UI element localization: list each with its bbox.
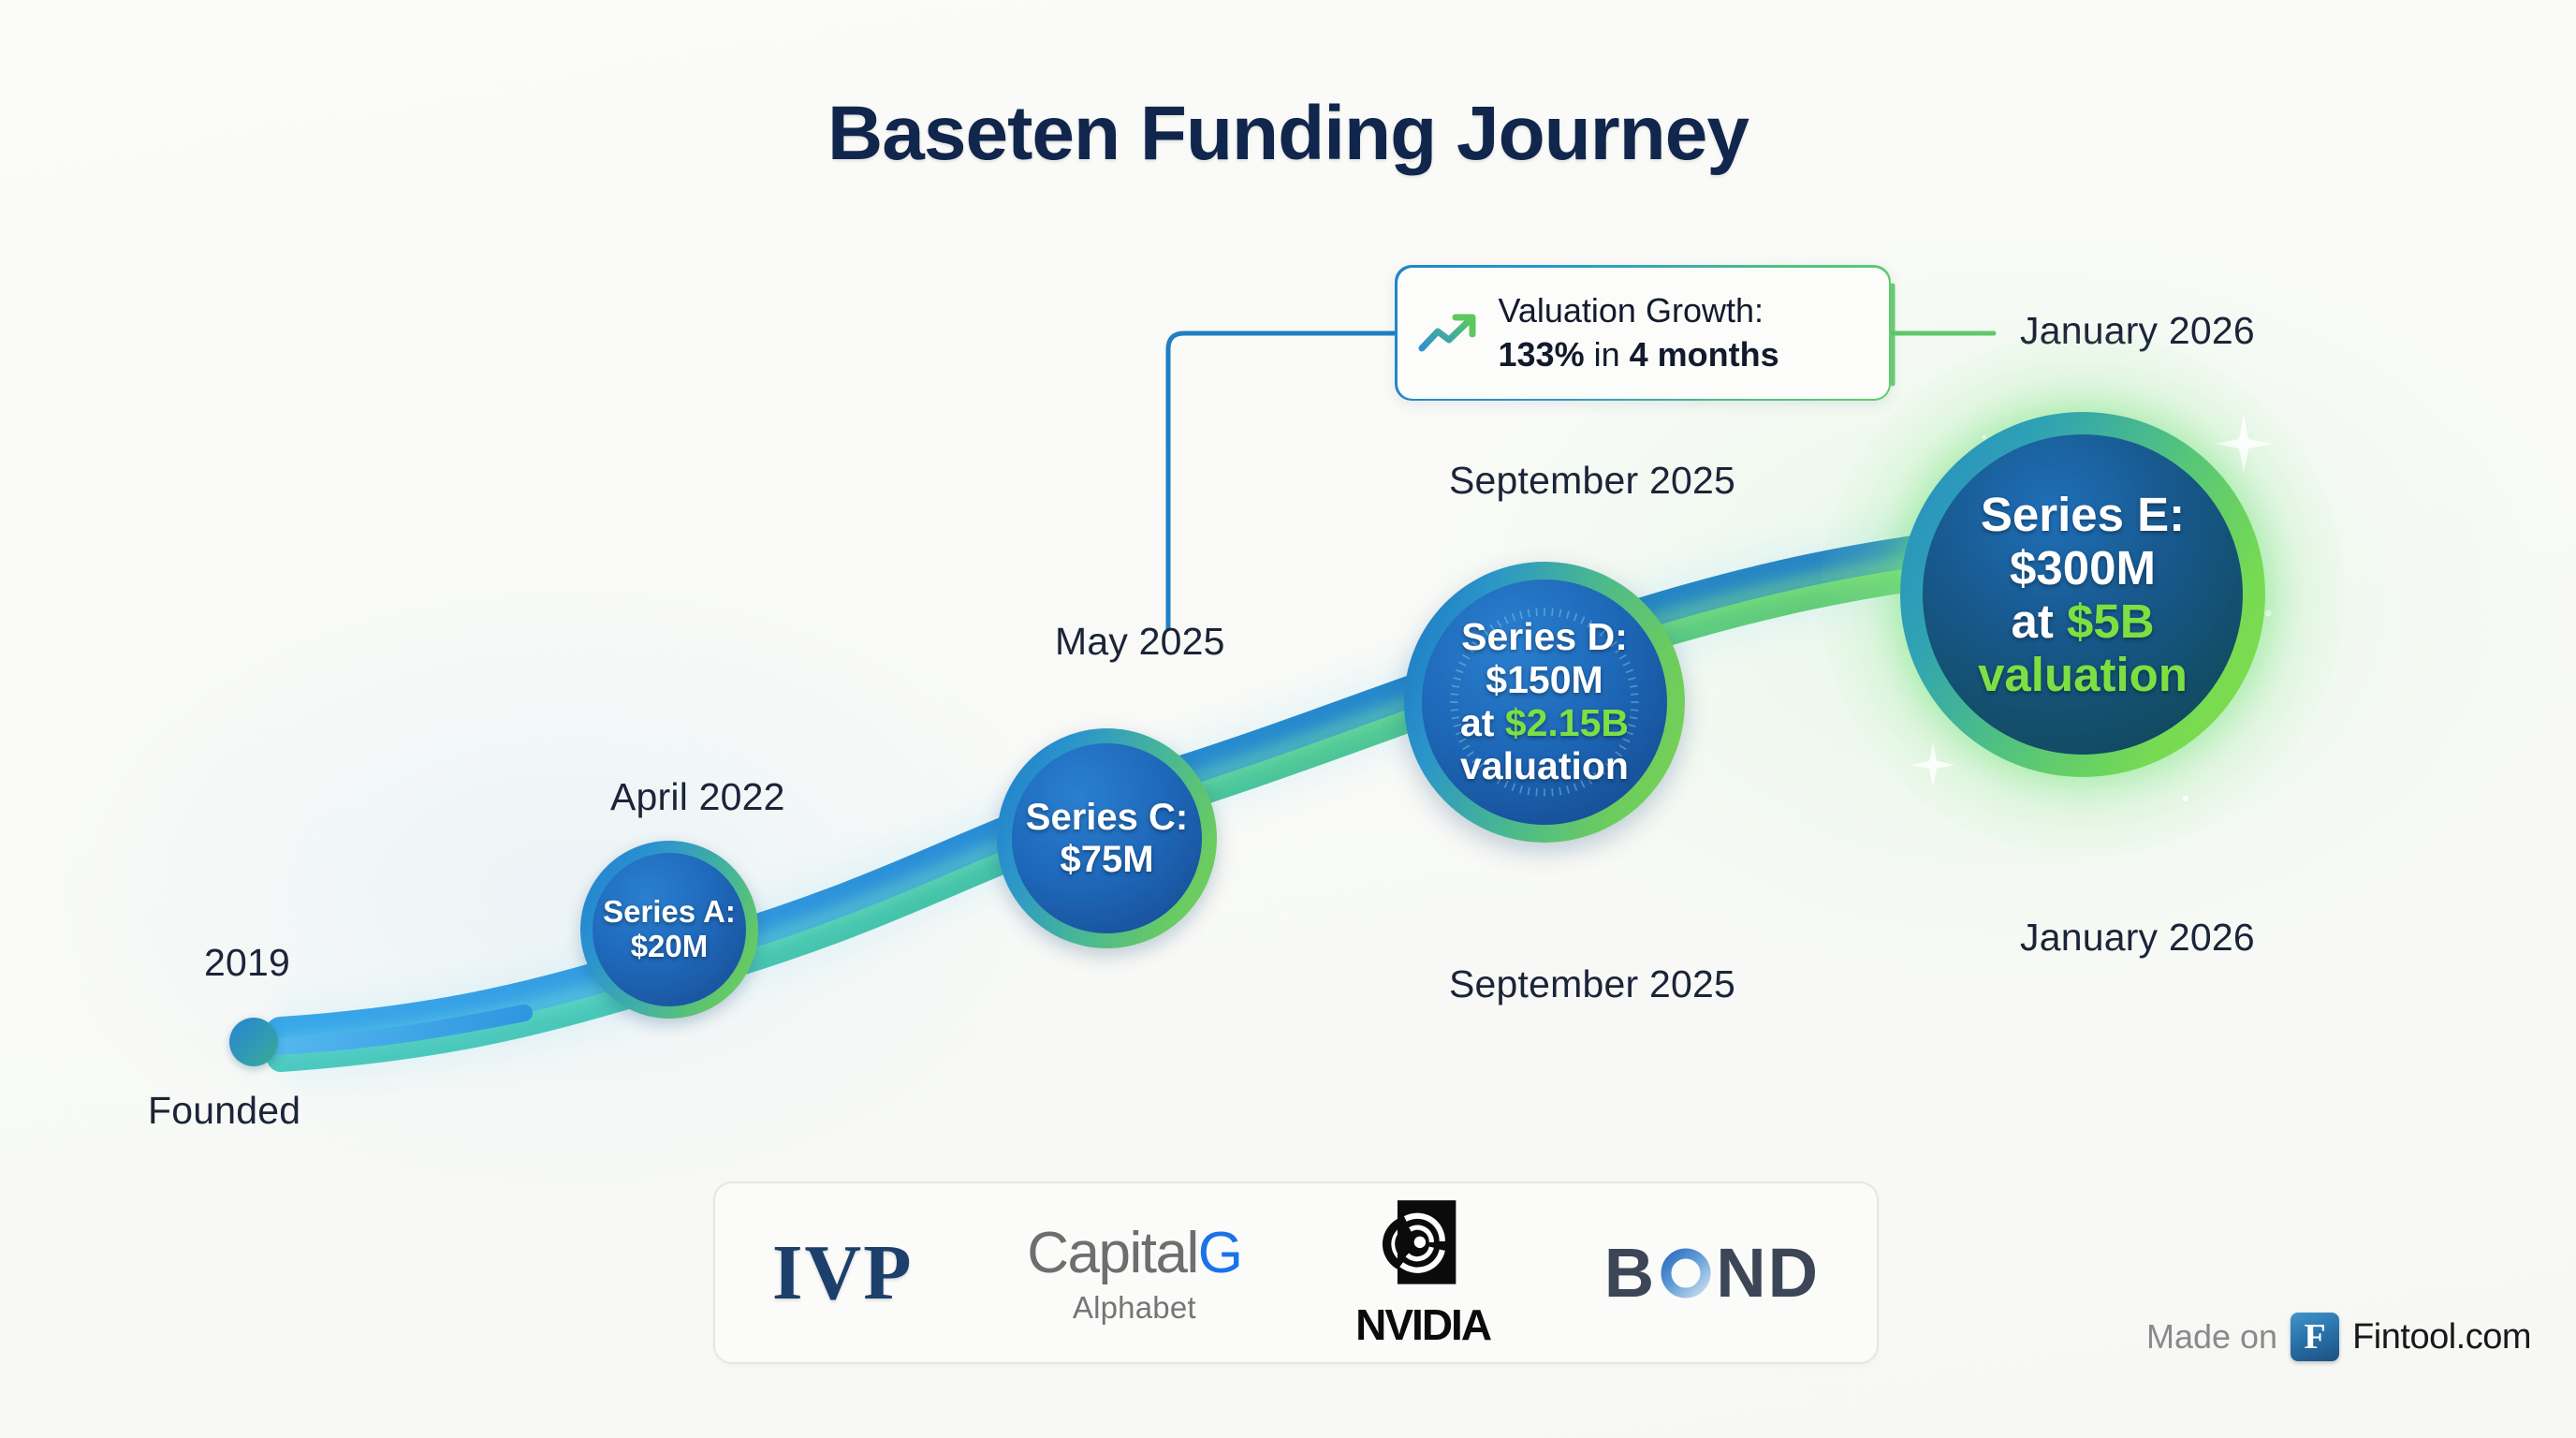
valuation-growth-callout: Valuation Growth: 133% in 4 months bbox=[1395, 265, 1891, 401]
series-d-valuation: $2.15B bbox=[1505, 701, 1629, 744]
made-on-label: Made on bbox=[2146, 1317, 2277, 1357]
series-e-line3: at $5B bbox=[1978, 594, 2188, 648]
series-d-core: Series D: $150M at $2.15B valuation bbox=[1422, 580, 1667, 825]
series-e-line2: $300M bbox=[1978, 541, 2188, 594]
milestone-series-e[interactable]: Series E: $300M at $5B valuation bbox=[1900, 412, 2265, 777]
callout-line2: 133% in 4 months bbox=[1499, 333, 1779, 376]
infographic-canvas: Baseten Funding Journey Valuation Growth… bbox=[0, 0, 2576, 1438]
series-d-line4: valuation bbox=[1460, 745, 1629, 788]
investor-logo-capitalg: CapitalG Alphabet bbox=[1027, 1220, 1241, 1326]
capitalg-g: G bbox=[1198, 1221, 1242, 1285]
series-e-line1: Series E: bbox=[1978, 488, 2188, 541]
milestone-series-d[interactable]: Series D: $150M at $2.15B valuation bbox=[1404, 562, 1685, 843]
investor-logo-ivp: IVP bbox=[772, 1227, 914, 1318]
label-date-series-d-below: September 2025 bbox=[1449, 962, 1735, 1006]
series-e-at: at bbox=[2011, 594, 2067, 648]
fintool-logo-icon: F bbox=[2291, 1313, 2339, 1361]
callout-line1: Valuation Growth: bbox=[1499, 289, 1779, 332]
series-d-at: at bbox=[1460, 701, 1505, 744]
series-e-valuation: $5B bbox=[2067, 594, 2155, 648]
investor-logo-bond: B ND bbox=[1604, 1233, 1820, 1313]
series-a-line2: $20M bbox=[603, 930, 736, 964]
label-date-series-d-above: September 2025 bbox=[1449, 459, 1735, 503]
series-a-core: Series A: $20M bbox=[593, 853, 746, 1006]
milestone-series-a[interactable]: Series A: $20M bbox=[580, 841, 758, 1019]
callout-connector: in bbox=[1585, 335, 1630, 374]
capitalg-sub: Alphabet bbox=[1073, 1290, 1196, 1326]
bond-swirl-icon bbox=[1658, 1245, 1714, 1301]
ivp-wordmark: IVP bbox=[772, 1227, 914, 1318]
series-d-line2: $150M bbox=[1460, 659, 1629, 702]
series-e-core: Series E: $300M at $5B valuation bbox=[1923, 434, 2243, 755]
label-founded-year: 2019 bbox=[204, 941, 290, 985]
founding-dot bbox=[229, 1018, 278, 1066]
label-date-series-a: April 2022 bbox=[610, 775, 785, 819]
growth-duration: 4 months bbox=[1630, 335, 1779, 374]
fintool-brand-link[interactable]: Fintool.com bbox=[2352, 1317, 2531, 1357]
bond-nd: ND bbox=[1716, 1233, 1820, 1313]
capitalg-wordmark: CapitalG bbox=[1027, 1220, 1241, 1286]
series-e-line4: valuation bbox=[1978, 648, 2188, 701]
bond-wordmark: B ND bbox=[1604, 1233, 1820, 1313]
trending-up-icon bbox=[1418, 309, 1480, 358]
series-c-line1: Series C: bbox=[1026, 797, 1188, 839]
page-title: Baseten Funding Journey bbox=[0, 90, 2576, 178]
footer-attribution[interactable]: Made on F Fintool.com bbox=[2146, 1311, 2531, 1363]
nvidia-eye-icon bbox=[1374, 1196, 1471, 1294]
label-date-series-c: May 2025 bbox=[1055, 620, 1225, 664]
growth-percent: 133% bbox=[1499, 335, 1585, 374]
label-founded: Founded bbox=[148, 1089, 300, 1133]
series-d-line3: at $2.15B bbox=[1460, 702, 1629, 745]
label-date-series-e-below: January 2026 bbox=[2020, 916, 2255, 960]
series-d-line1: Series D: bbox=[1460, 616, 1629, 659]
callout-text: Valuation Growth: 133% in 4 months bbox=[1499, 289, 1779, 375]
investors-panel: IVP CapitalG Alphabet bbox=[713, 1181, 1879, 1364]
series-a-line1: Series A: bbox=[603, 895, 736, 930]
milestone-series-c[interactable]: Series C: $75M bbox=[997, 728, 1217, 948]
series-c-line2: $75M bbox=[1026, 839, 1188, 881]
capitalg-capital: Capital bbox=[1027, 1221, 1198, 1285]
investor-logo-nvidia: NVIDIA bbox=[1355, 1196, 1490, 1350]
nvidia-wordmark: NVIDIA bbox=[1355, 1299, 1490, 1350]
series-c-core: Series C: $75M bbox=[1012, 743, 1202, 933]
bond-b: B bbox=[1604, 1233, 1656, 1313]
